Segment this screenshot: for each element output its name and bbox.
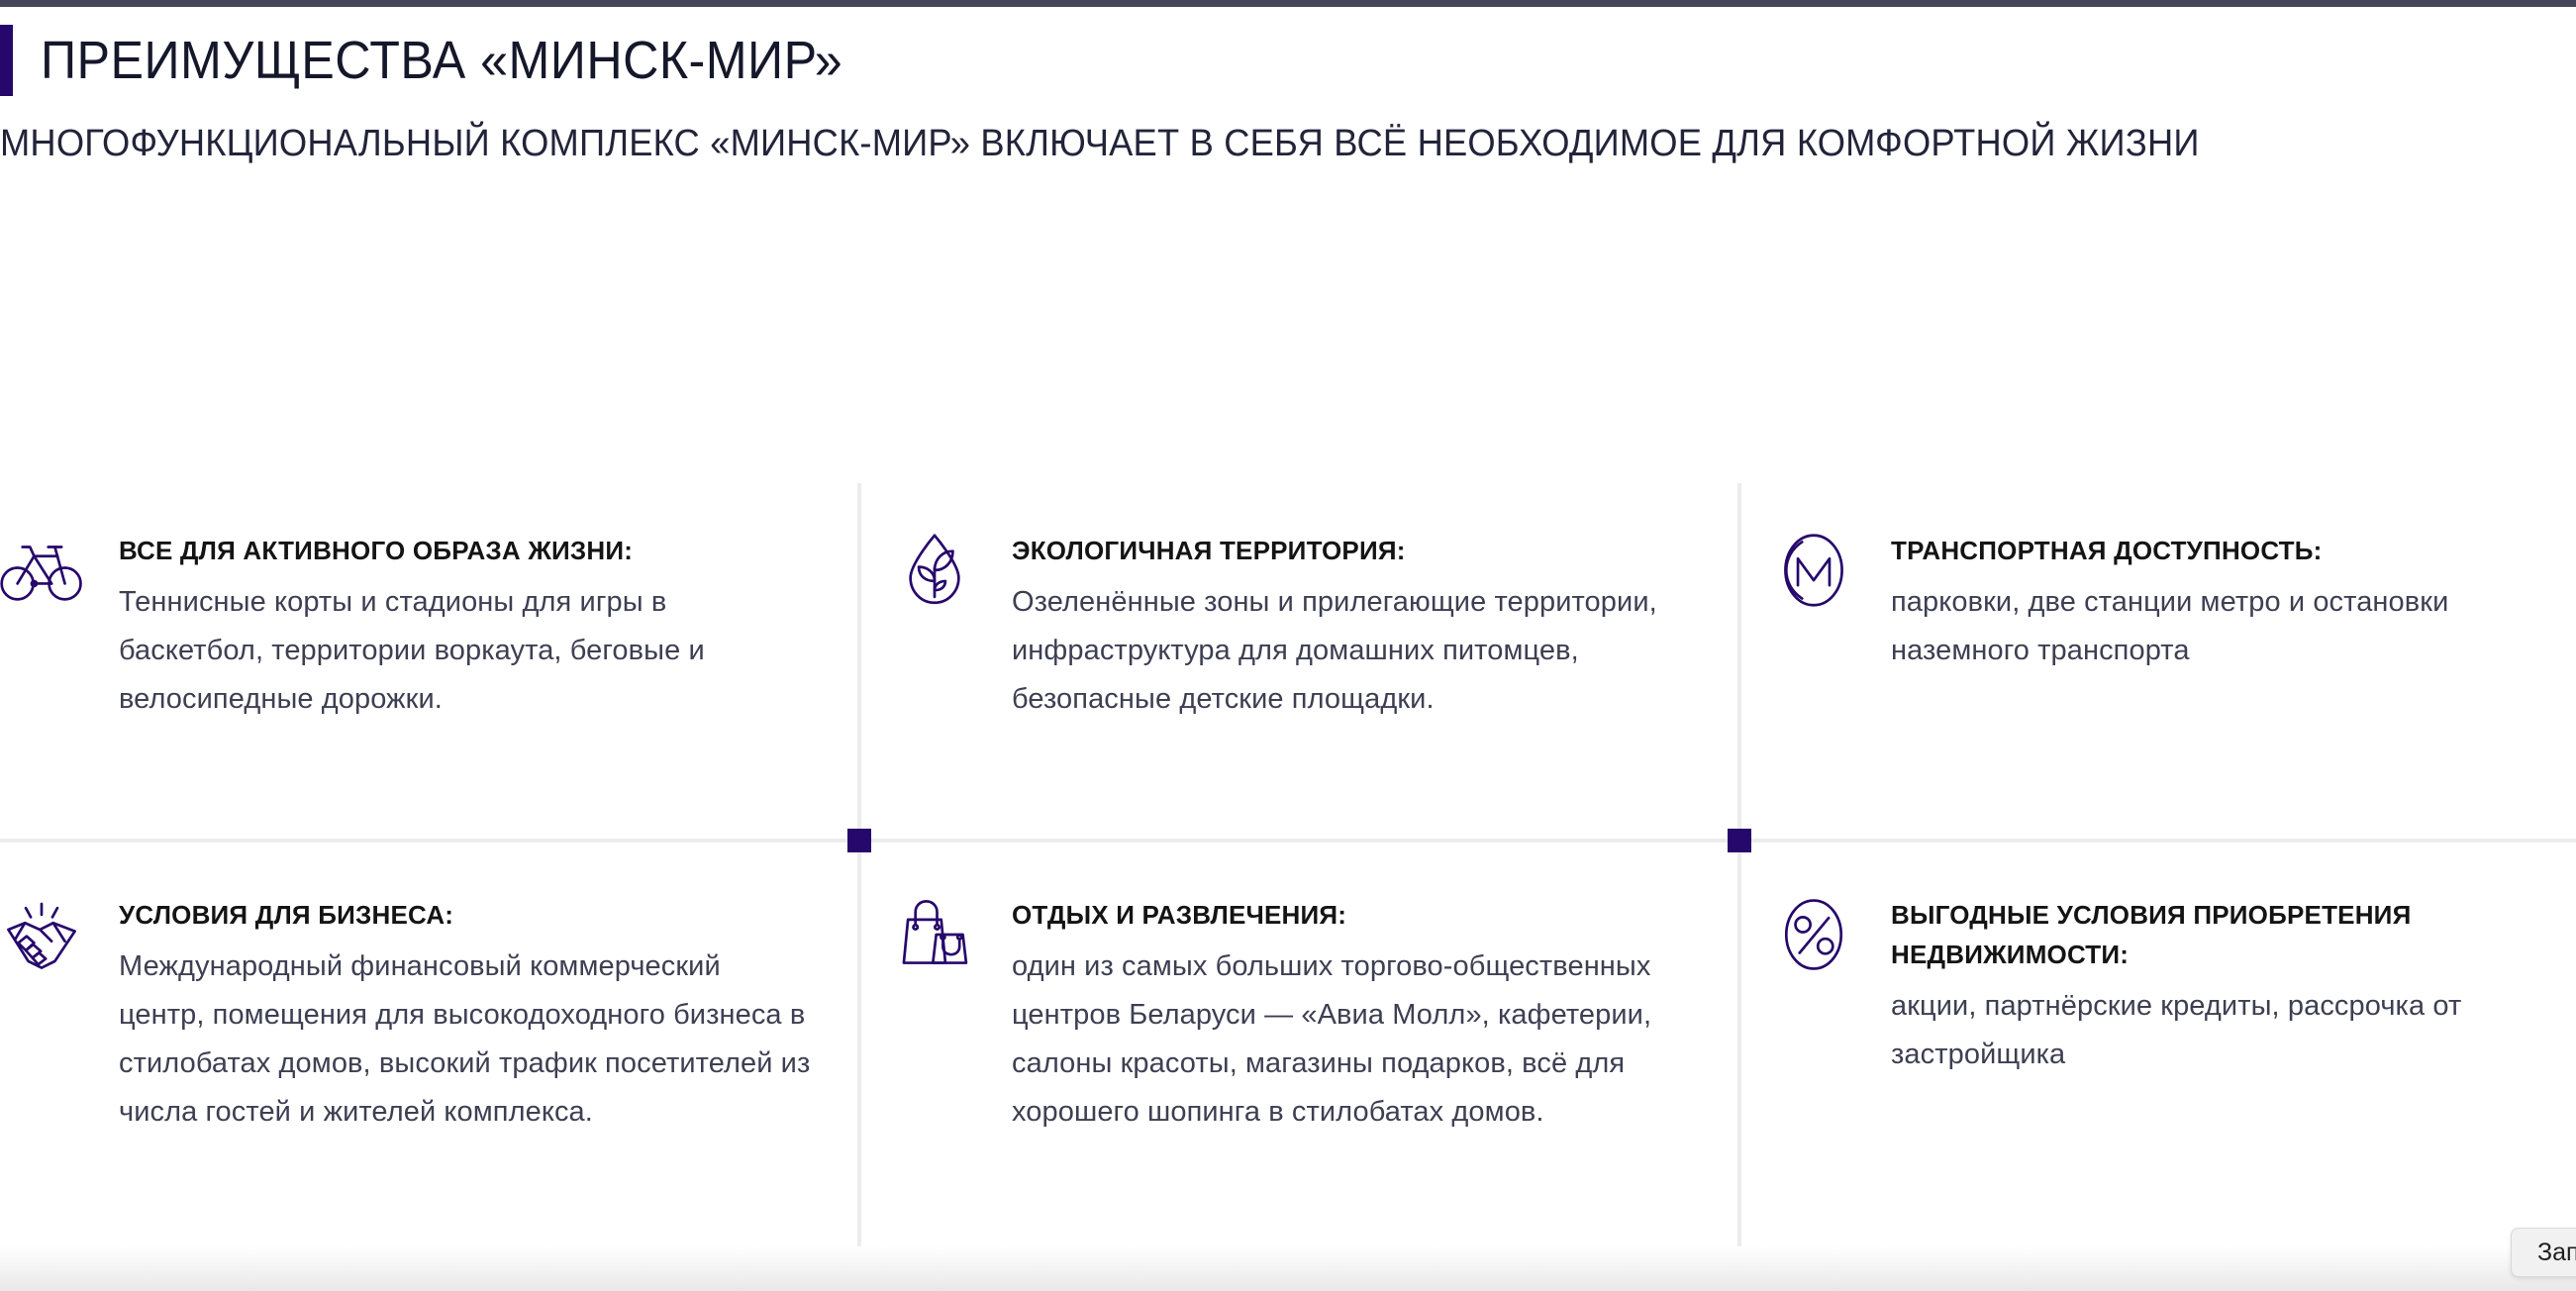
- page-content: ПРЕИМУЩЕСТВА «МИНСК-МИР» МНОГОФУНКЦИОНАЛ…: [0, 7, 2576, 1291]
- advantage-card-purchase-terms[interactable]: ВЫГОДНЫЕ УСЛОВИЯ ПРИОБРЕТЕНИЯ НЕДВИЖИМОС…: [1772, 889, 2564, 1079]
- card-body: ВЫГОДНЫЕ УСЛОВИЯ ПРИОБРЕТЕНИЯ НЕДВИЖИМОС…: [1891, 889, 2564, 1079]
- card-text: Международный финансовый коммерческий це…: [119, 943, 812, 1137]
- grid-divider-vertical-2: [1737, 483, 1741, 1265]
- card-text: один из самых больших торгово-общественн…: [1012, 943, 1685, 1137]
- card-body: ЭКОЛОГИЧНАЯ ТЕРРИТОРИЯ: Озеленённые зоны…: [1012, 525, 1685, 724]
- card-title: ОТДЫХ И РАЗВЛЕЧЕНИЯ:: [1012, 895, 1685, 935]
- advantage-card-transport[interactable]: ТРАНСПОРТНАЯ ДОСТУПНОСТЬ: парковки, две …: [1772, 525, 2554, 675]
- advantage-card-business[interactable]: УСЛОВИЯ ДЛЯ БИЗНЕСА: Международный финан…: [0, 889, 812, 1137]
- card-text: акции, партнёрские кредиты, рассрочка от…: [1891, 982, 2564, 1079]
- card-body: ВСЕ ДЛЯ АКТИВНОГО ОБРАЗА ЖИЗНИ: Теннисны…: [119, 525, 812, 724]
- card-text: парковки, две станции метро и остановки …: [1891, 578, 2554, 675]
- eco-leaf-drop-icon: [893, 529, 988, 624]
- shopping-bag-icon: [893, 893, 988, 988]
- browser-chrome-strip: [0, 0, 2576, 7]
- page-title: ПРЕИМУЩЕСТВА «МИНСК-МИР»: [41, 25, 842, 96]
- card-title: ВСЕ ДЛЯ АКТИВНОГО ОБРАЗА ЖИЗНИ:: [119, 531, 812, 570]
- card-body: ТРАНСПОРТНАЯ ДОСТУПНОСТЬ: парковки, две …: [1891, 525, 2554, 675]
- card-body: ОТДЫХ И РАЗВЛЕЧЕНИЯ: один из самых больш…: [1012, 889, 1685, 1137]
- advantages-grid: ВСЕ ДЛЯ АКТИВНОГО ОБРАЗА ЖИЗНИ: Теннисны…: [0, 483, 2576, 1265]
- handshake-icon: [0, 893, 95, 988]
- title-accent-bar: [0, 25, 13, 96]
- grid-marker-square-1: [847, 829, 871, 852]
- card-title: ТРАНСПОРТНАЯ ДОСТУПНОСТЬ:: [1891, 531, 2554, 570]
- card-title: УСЛОВИЯ ДЛЯ БИЗНЕСА:: [119, 895, 812, 935]
- card-text: Озеленённые зоны и прилегающие территори…: [1012, 578, 1685, 724]
- section-title-row: ПРЕИМУЩЕСТВА «МИНСК-МИР»: [0, 25, 903, 96]
- callback-request-button[interactable]: Зап: [2511, 1228, 2576, 1277]
- section-subtitle: МНОГОФУНКЦИОНАЛЬНЫЙ КОМПЛЕКС «МИНСК-МИР»…: [0, 110, 2453, 177]
- percent-icon: [1772, 893, 1867, 988]
- callback-button-label: Зап: [2537, 1239, 2576, 1267]
- bicycle-icon: [0, 529, 95, 624]
- grid-divider-horizontal: [0, 839, 2576, 843]
- advantage-card-active-lifestyle[interactable]: ВСЕ ДЛЯ АКТИВНОГО ОБРАЗА ЖИЗНИ: Теннисны…: [0, 525, 812, 724]
- advantage-card-eco-territory[interactable]: ЭКОЛОГИЧНАЯ ТЕРРИТОРИЯ: Озеленённые зоны…: [893, 525, 1685, 724]
- grid-divider-vertical-1: [857, 483, 861, 1265]
- advantage-card-leisure[interactable]: ОТДЫХ И РАЗВЛЕЧЕНИЯ: один из самых больш…: [893, 889, 1685, 1137]
- card-text: Теннисные корты и стадионы для игры в ба…: [119, 578, 812, 724]
- card-title: ЭКОЛОГИЧНАЯ ТЕРРИТОРИЯ:: [1012, 531, 1685, 570]
- grid-marker-square-2: [1728, 829, 1751, 852]
- metro-icon: [1772, 529, 1867, 624]
- card-title: ВЫГОДНЫЕ УСЛОВИЯ ПРИОБРЕТЕНИЯ НЕДВИЖИМОС…: [1891, 895, 2564, 974]
- bottom-gradient-strip: [0, 1246, 2576, 1291]
- card-body: УСЛОВИЯ ДЛЯ БИЗНЕСА: Международный финан…: [119, 889, 812, 1137]
